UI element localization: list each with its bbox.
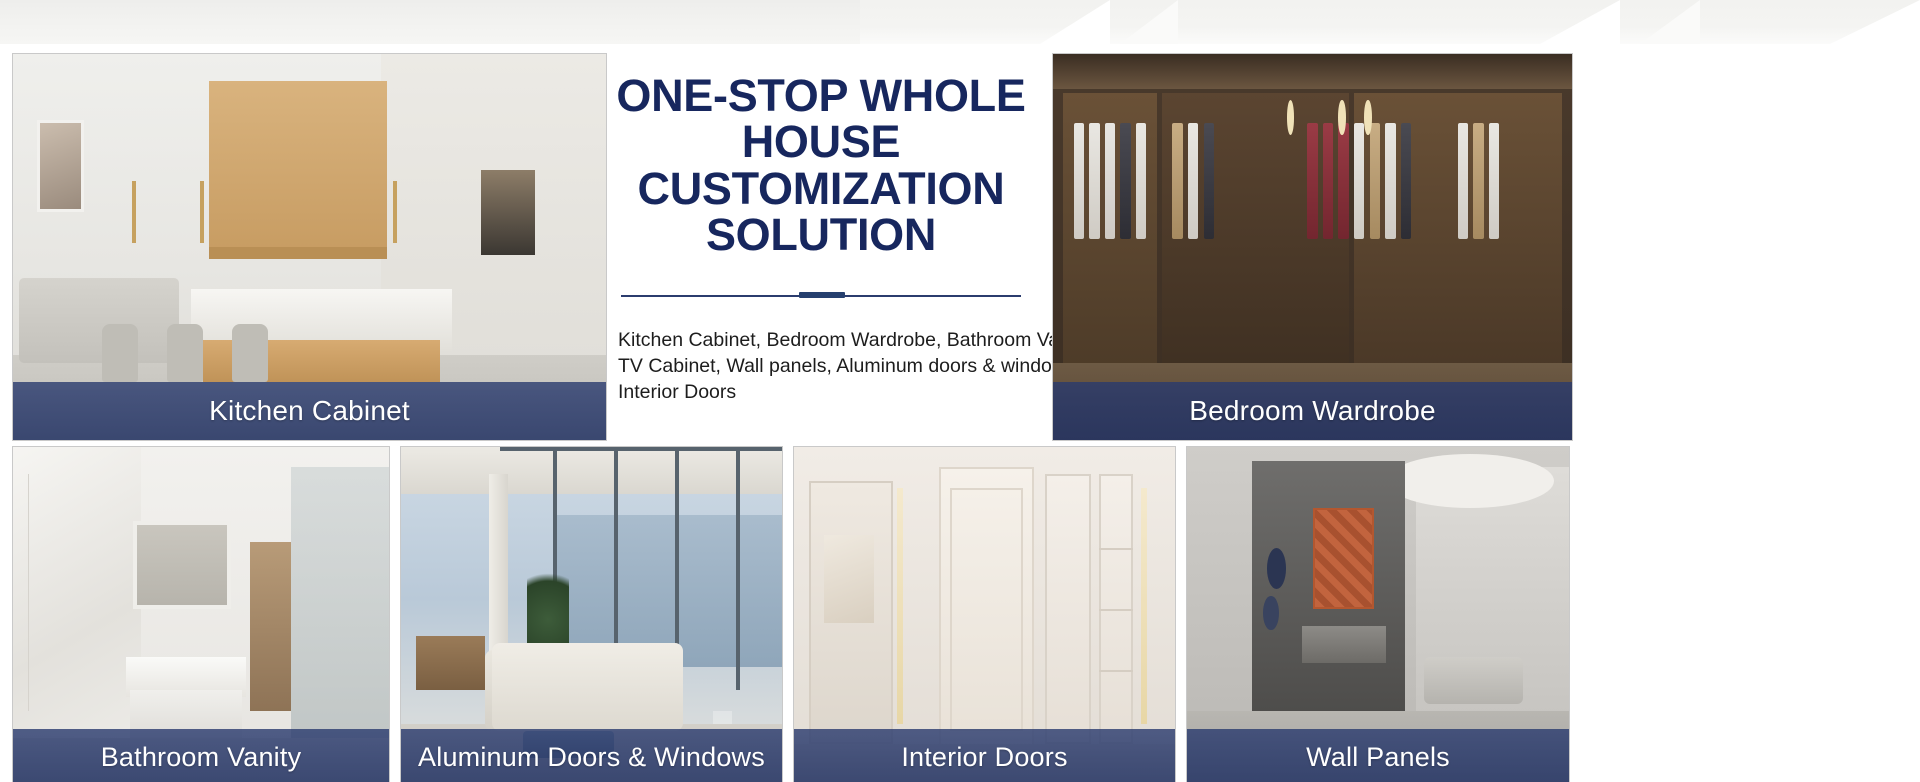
headline-divider bbox=[621, 286, 1021, 306]
card-caption: Bedroom Wardrobe bbox=[1053, 382, 1572, 440]
top-band-triangle-4 bbox=[1640, 0, 1700, 44]
top-band-triangle-1 bbox=[1040, 0, 1110, 44]
top-row: Kitchen Cabinet ONE-STOP WHOLE HOUSE CUS… bbox=[12, 53, 1908, 441]
category-label-bathroom-vanity: Bathroom Vanity bbox=[101, 742, 302, 773]
category-card-aluminum-doors-windows[interactable]: Aluminum Doors & Windows bbox=[400, 446, 783, 782]
card-caption: Wall Panels bbox=[1187, 729, 1569, 782]
headline-line-1: ONE-STOP WHOLE bbox=[611, 73, 1031, 119]
category-label-aluminum-doors-windows: Aluminum Doors & Windows bbox=[418, 742, 765, 773]
card-caption: Kitchen Cabinet bbox=[13, 382, 606, 440]
category-card-wall-panels[interactable]: Wall Panels bbox=[1186, 446, 1570, 782]
category-label-wall-panels: Wall Panels bbox=[1306, 742, 1450, 773]
banner-headline: ONE-STOP WHOLE HOUSE CUSTOMIZATION SOLUT… bbox=[611, 73, 1031, 258]
banner-description: Kitchen Cabinet, Bedroom Wardrobe, Bathr… bbox=[618, 328, 1024, 405]
top-band-triangle-5 bbox=[1830, 0, 1920, 44]
category-card-kitchen-cabinet[interactable]: Kitchen Cabinet bbox=[12, 53, 607, 441]
top-band-fade bbox=[0, 0, 860, 44]
top-band-triangle-3 bbox=[1540, 0, 1620, 44]
divider-accent bbox=[799, 292, 845, 298]
bottom-row: Bathroom Vanity bbox=[12, 446, 1908, 782]
category-card-bedroom-wardrobe[interactable]: Bedroom Wardrobe bbox=[1052, 53, 1573, 441]
category-card-bathroom-vanity[interactable]: Bathroom Vanity bbox=[12, 446, 390, 782]
description-line-3: Interior Doors bbox=[618, 380, 1024, 406]
category-banner: Kitchen Cabinet ONE-STOP WHOLE HOUSE CUS… bbox=[0, 44, 1920, 782]
top-band-triangle-2 bbox=[1120, 0, 1178, 44]
description-line-1: Kitchen Cabinet, Bedroom Wardrobe, Bathr… bbox=[618, 328, 1024, 354]
description-line-2: TV Cabinet, Wall panels, Aluminum doors … bbox=[618, 354, 1024, 380]
card-caption: Aluminum Doors & Windows bbox=[401, 729, 782, 782]
category-label-bedroom-wardrobe: Bedroom Wardrobe bbox=[1189, 395, 1436, 427]
category-card-interior-doors[interactable]: Interior Doors bbox=[793, 446, 1176, 782]
headline-line-3: SOLUTION bbox=[611, 212, 1031, 258]
category-label-kitchen-cabinet: Kitchen Cabinet bbox=[209, 395, 410, 427]
top-decorative-band bbox=[0, 0, 1920, 44]
card-caption: Interior Doors bbox=[794, 729, 1175, 782]
category-label-interior-doors: Interior Doors bbox=[901, 742, 1067, 773]
banner-text-column: ONE-STOP WHOLE HOUSE CUSTOMIZATION SOLUT… bbox=[607, 53, 1035, 441]
headline-line-2: HOUSE CUSTOMIZATION bbox=[611, 119, 1031, 212]
card-caption: Bathroom Vanity bbox=[13, 729, 389, 782]
